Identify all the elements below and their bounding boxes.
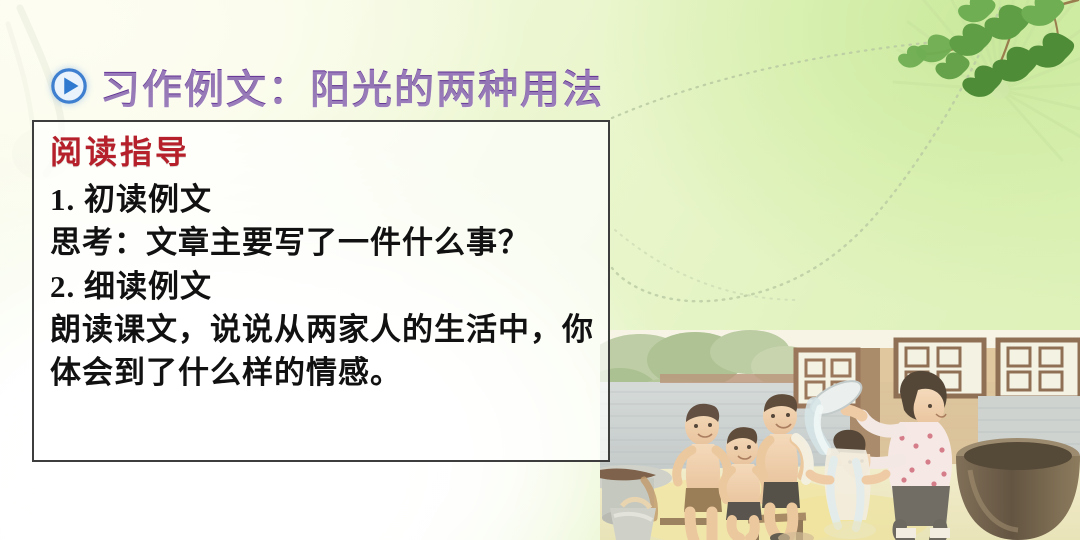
panel-line-2: 思考：文章主要写了一件什么事？	[50, 221, 598, 264]
panel-line-1: 1. 初读例文	[50, 178, 598, 221]
slide-canvas: 习作例文：阳光的两种用法 阅读指导 1. 初读例文 思考：文章主要写了一件什么事…	[0, 0, 1080, 540]
panel-heading: 阅读指导	[50, 134, 598, 172]
ivy-vine-leaves-icon	[820, 0, 1080, 124]
reading-guide-panel: 阅读指导 1. 初读例文 思考：文章主要写了一件什么事？ 2. 细读例文 朗读课…	[32, 120, 610, 462]
play-triangle-icon[interactable]	[50, 67, 88, 105]
courtyard-hair-washing-illustration	[600, 330, 1080, 540]
panel-line-3: 2. 细读例文	[50, 265, 598, 308]
page-title-text: 习作例文：阳光的两种用法	[100, 57, 604, 115]
page-title: 习作例文：阳光的两种用法	[50, 60, 604, 112]
panel-line-4: 朗读课文，说说从两家人的生活中，你体会到了什么样的情感。	[50, 308, 598, 395]
